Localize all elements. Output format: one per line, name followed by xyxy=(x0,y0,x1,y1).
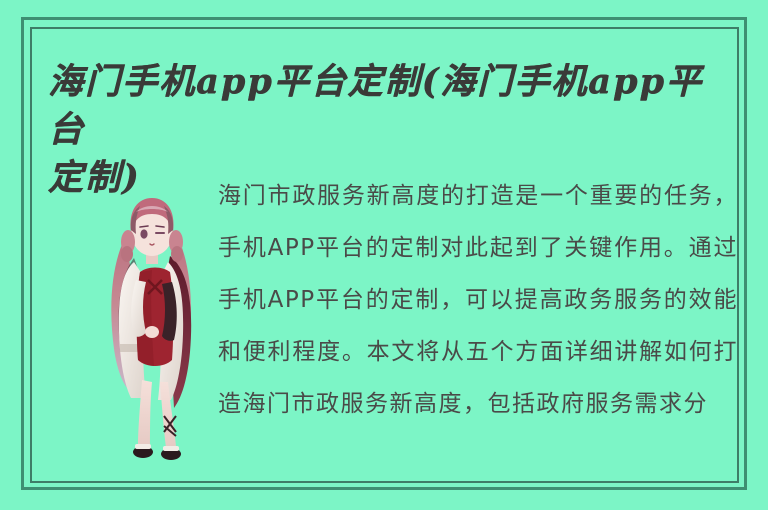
anime-girl-illustration xyxy=(90,184,212,469)
article-content: 海门市政服务新高度的打造是一个重要的任务，手机APP平台的定制对此起到了关键作用… xyxy=(34,162,736,477)
article-card: 海门手机app平台定制(海门手机app平台 定制) xyxy=(0,0,768,510)
article-body: 海门市政服务新高度的打造是一个重要的任务，手机APP平台的定制对此起到了关键作用… xyxy=(218,170,736,470)
